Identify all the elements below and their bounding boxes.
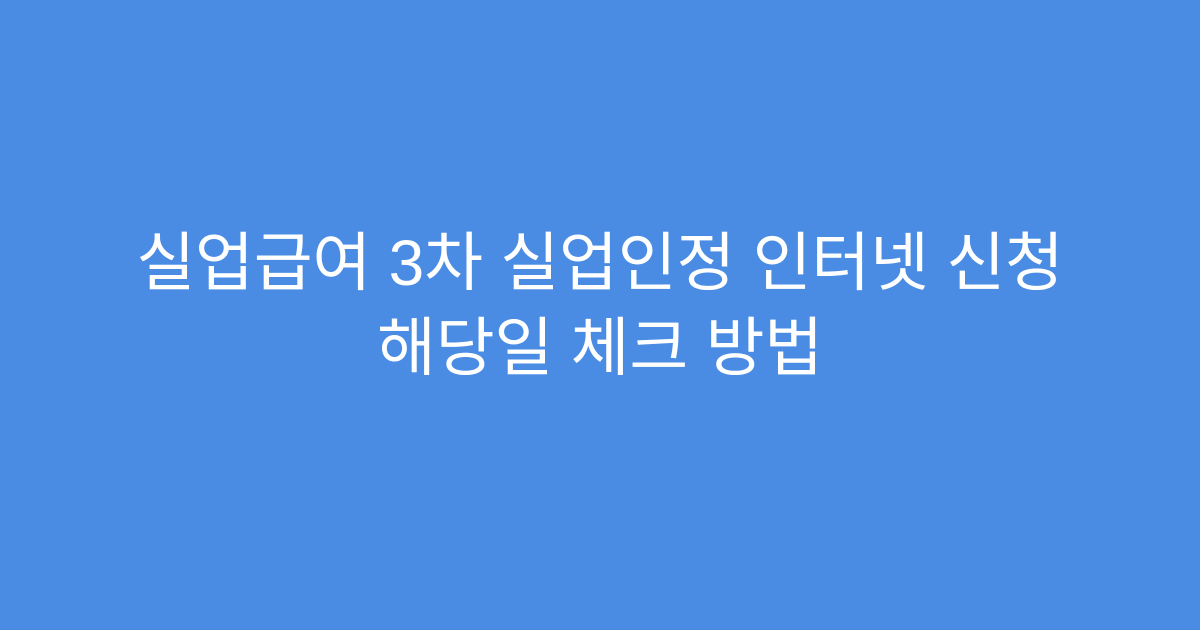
thumbnail-card: 실업급여 3차 실업인정 인터넷 신청 해당일 체크 방법 xyxy=(0,0,1200,630)
title-block: 실업급여 3차 실업인정 인터넷 신청 해당일 체크 방법 xyxy=(70,221,1130,391)
page-title: 실업급여 3차 실업인정 인터넷 신청 해당일 체크 방법 xyxy=(70,221,1130,391)
